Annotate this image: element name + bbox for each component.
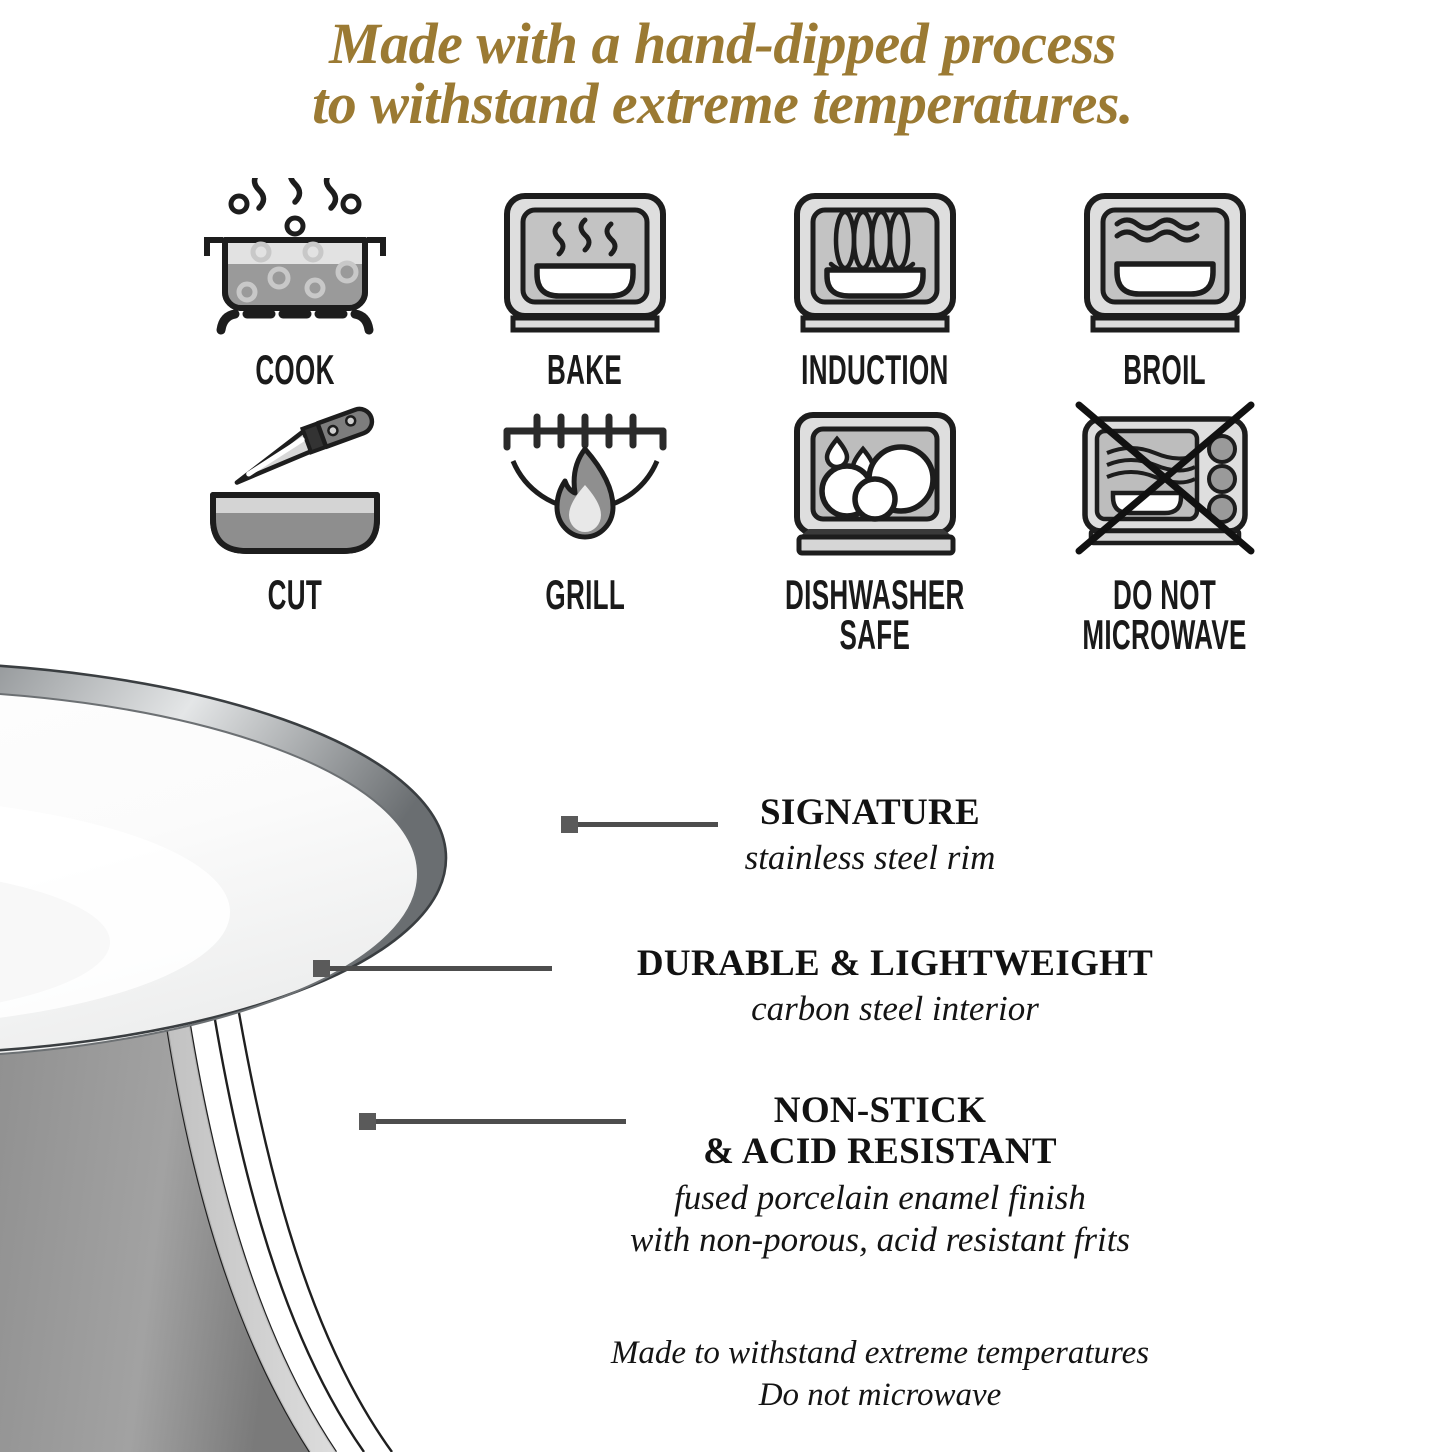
capability-bake: BAKE — [440, 178, 730, 389]
capability-dishwasher-safe: DISHWASHER SAFE — [730, 395, 1020, 654]
capability-label-grill: GRILL — [545, 575, 625, 614]
callout-nonstick-title-line-1: NON-STICK — [530, 1090, 1230, 1131]
callout-durable: DURABLE & LIGHTWEIGHT carbon steel inter… — [560, 943, 1230, 1030]
callout-durable-subtitle: carbon steel interior — [560, 988, 1230, 1030]
oven-bake-icon — [485, 178, 685, 346]
capability-label-dishwasher-safe: DISHWASHER SAFE — [785, 575, 965, 654]
knife-dish-icon — [195, 395, 395, 571]
callout-signature-title: SIGNATURE — [640, 792, 1100, 833]
page-title: Made with a hand-dipped process to withs… — [0, 14, 1445, 133]
callout-nonstick-subtitle-line-1: fused porcelain enamel finish — [530, 1177, 1230, 1219]
callout-nonstick-subtitle-line-2: with non-porous, acid resistant frits — [530, 1219, 1230, 1261]
capability-label-cut: CUT — [268, 575, 322, 614]
callout-signature-subtitle: stainless steel rim — [640, 837, 1100, 879]
product-illustration — [0, 612, 750, 1452]
headline-line-1: Made with a hand-dipped process — [329, 11, 1116, 76]
capability-label-broil: BROIL — [1124, 350, 1207, 389]
oven-induction-icon — [775, 178, 975, 346]
footer-note-line-2: Do not microwave — [430, 1374, 1330, 1416]
capability-label-bake: BAKE — [547, 350, 622, 389]
pot-boiling-icon — [195, 178, 395, 346]
grill-flame-icon — [485, 395, 685, 571]
capability-cook: COOK — [150, 178, 440, 389]
capability-label-induction: INDUCTION — [801, 350, 948, 389]
capability-label-cook: COOK — [255, 350, 334, 389]
microwave-crossed-icon — [1065, 395, 1265, 571]
callout-durable-title: DURABLE & LIGHTWEIGHT — [560, 943, 1230, 984]
callout-signature: SIGNATURE stainless steel rim — [640, 792, 1100, 879]
capability-label-do-not-microwave: DO NOT MICROWAVE — [1083, 575, 1247, 654]
capability-broil: BROIL — [1020, 178, 1310, 389]
oven-broil-icon — [1065, 178, 1265, 346]
headline-line-2: to withstand extreme temperatures. — [60, 74, 1385, 134]
dishwasher-icon — [775, 395, 975, 571]
capability-do-not-microwave: DO NOT MICROWAVE — [1020, 395, 1310, 654]
infographic-canvas: Made with a hand-dipped process to withs… — [0, 0, 1445, 1445]
capability-induction: INDUCTION — [730, 178, 1020, 389]
capability-icon-grid: COOK BAKE — [150, 178, 1310, 654]
footer-note: Made to withstand extreme temperatures D… — [430, 1332, 1330, 1416]
leader-line-durable — [320, 966, 552, 971]
pot-group — [0, 662, 446, 1452]
footer-note-line-1: Made to withstand extreme temperatures — [430, 1332, 1330, 1374]
callout-nonstick-title-line-2: & ACID RESISTANT — [530, 1131, 1230, 1172]
callout-nonstick: NON-STICK & ACID RESISTANT fused porcela… — [530, 1090, 1230, 1261]
